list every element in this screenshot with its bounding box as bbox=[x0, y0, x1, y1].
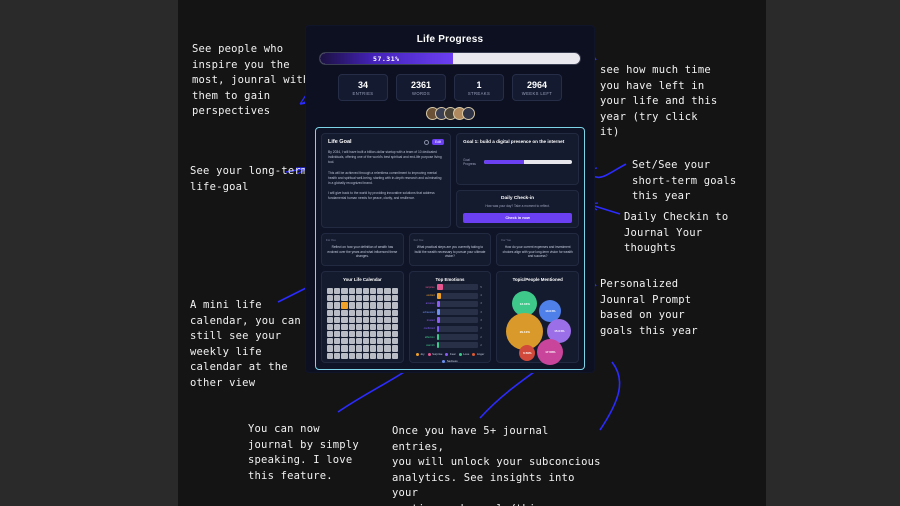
emotion-bar-fill bbox=[437, 284, 443, 290]
prompt-text: Reflect on how your definition of wealth… bbox=[326, 245, 399, 259]
calendar-cell[interactable] bbox=[384, 338, 390, 344]
emotion-label: conflicted bbox=[415, 327, 435, 330]
calendar-cell[interactable] bbox=[392, 345, 398, 351]
stat-value: 2361 bbox=[411, 80, 431, 90]
prompt-row: For You Reflect on how your definition o… bbox=[321, 233, 579, 266]
calendar-cell[interactable] bbox=[370, 310, 376, 316]
emotion-value: 5 bbox=[480, 286, 485, 289]
calendar-cell[interactable] bbox=[384, 295, 390, 301]
goal-progress-fill bbox=[484, 160, 524, 164]
calendar-cell[interactable] bbox=[341, 345, 347, 351]
legend-label: Fear bbox=[450, 352, 456, 356]
life-progress-label: 57.31% bbox=[320, 53, 453, 64]
calendar-cell[interactable] bbox=[377, 302, 383, 308]
topic-bubble[interactable]: 6.59% bbox=[519, 345, 535, 361]
life-goal-paragraph: I will give back to the world by providi… bbox=[328, 191, 444, 201]
calendar-cell[interactable] bbox=[356, 310, 362, 316]
calendar-cell[interactable] bbox=[370, 324, 376, 330]
life-progress-bar[interactable]: 57.31% bbox=[319, 52, 581, 65]
life-goal-paragraph: By 2034, I will have built a billion-dol… bbox=[328, 150, 444, 166]
calendar-cell[interactable] bbox=[349, 324, 355, 330]
calendar-cell[interactable] bbox=[384, 324, 390, 330]
life-goal-title: Life Goal bbox=[328, 139, 352, 145]
calendar-cell[interactable] bbox=[349, 345, 355, 351]
emotion-row: warmth2 bbox=[415, 342, 486, 348]
annotation-daily-checkin: Daily Checkin to Journal Your thoughts bbox=[624, 210, 748, 257]
topic-people-card: Topic/People Mentioned 13.04%13.04%29.12… bbox=[496, 271, 579, 363]
stat-label: STREAKS bbox=[468, 91, 490, 96]
emotion-label: exhausted bbox=[415, 311, 435, 314]
emotion-bar bbox=[437, 317, 479, 323]
stat-value: 2964 bbox=[527, 80, 547, 90]
gear-icon[interactable] bbox=[424, 140, 429, 145]
calendar-cell[interactable] bbox=[392, 324, 398, 330]
emotion-row: conflicted2 bbox=[415, 326, 486, 332]
stat-words[interactable]: 2361 WORDS bbox=[396, 74, 446, 101]
calendar-cell[interactable] bbox=[377, 295, 383, 301]
calendar-cell[interactable] bbox=[377, 353, 383, 359]
emotion-bar bbox=[437, 334, 479, 340]
emotion-row: excited4 bbox=[415, 293, 486, 299]
emotion-row: anxious3 bbox=[415, 301, 486, 307]
emotion-row: trusted3 bbox=[415, 317, 486, 323]
calendar-cell[interactable] bbox=[341, 310, 347, 316]
calendar-cell[interactable] bbox=[377, 345, 383, 351]
prompt-text: What practical steps are you currently t… bbox=[414, 245, 487, 259]
calendar-cell[interactable] bbox=[370, 345, 376, 351]
calendar-cell[interactable] bbox=[392, 331, 398, 337]
calendar-cell[interactable] bbox=[349, 353, 355, 359]
daily-checkin-title: Daily Check-in bbox=[463, 196, 572, 201]
emotion-bar-fill bbox=[437, 334, 440, 340]
inspiring-people-avatars[interactable] bbox=[306, 107, 594, 120]
life-goal-header: Life Goal Edit bbox=[328, 139, 444, 145]
calendar-cell[interactable] bbox=[392, 353, 398, 359]
topic-people-title: Topic/People Mentioned bbox=[502, 277, 573, 282]
annotation-life-goal: See your long-term life-goal bbox=[190, 164, 315, 195]
calendar-cell[interactable] bbox=[363, 353, 369, 359]
calendar-cell[interactable] bbox=[384, 353, 390, 359]
legend-dot bbox=[472, 353, 475, 356]
emotion-label: excited bbox=[415, 294, 435, 297]
edit-button[interactable]: Edit bbox=[432, 139, 444, 145]
stat-label: WEEKS LEFT bbox=[522, 91, 553, 96]
calendar-cell[interactable] bbox=[334, 324, 340, 330]
annotation-life-calendar: A mini life calendar, you can still see … bbox=[190, 298, 310, 391]
calendar-cell[interactable] bbox=[341, 295, 347, 301]
daily-checkin-subtitle: How was your day? Take a moment to refle… bbox=[463, 204, 572, 208]
emotion-label: trusted bbox=[415, 319, 435, 322]
stat-streaks[interactable]: 1 STREAKS bbox=[454, 74, 504, 101]
calendar-cell[interactable] bbox=[334, 353, 340, 359]
calendar-cell[interactable] bbox=[327, 295, 333, 301]
calendar-cell[interactable] bbox=[370, 353, 376, 359]
emotion-bar bbox=[437, 284, 479, 290]
calendar-cell[interactable] bbox=[363, 345, 369, 351]
stat-entries[interactable]: 34 ENTRIES bbox=[338, 74, 388, 101]
legend-label: Surprise bbox=[432, 352, 442, 356]
calendar-cell[interactable] bbox=[327, 310, 333, 316]
legend-label: Joy bbox=[420, 352, 424, 356]
prompt-text: How do your current expenses and investm… bbox=[501, 245, 574, 259]
emotion-value: 2 bbox=[480, 336, 485, 339]
page-title: Life Progress bbox=[306, 26, 594, 45]
calendar-cell[interactable] bbox=[384, 310, 390, 316]
calendar-cell[interactable] bbox=[349, 302, 355, 308]
legend-item: Fear bbox=[445, 352, 455, 356]
stat-label: ENTRIES bbox=[353, 91, 374, 96]
legend-dot bbox=[428, 353, 431, 356]
goal-progress-row: Goal Progress bbox=[463, 158, 572, 166]
emotion-label: surprise bbox=[415, 286, 435, 289]
prompt-card[interactable]: For You How do your current expenses and… bbox=[496, 233, 579, 266]
calendar-cell[interactable] bbox=[349, 331, 355, 337]
annotation-journal-prompt: Personalized Jounral Prompt based on you… bbox=[600, 277, 722, 339]
calendar-cell[interactable] bbox=[327, 324, 333, 330]
life-goal-paragraph: This will be achieved through a relentle… bbox=[328, 171, 444, 187]
calendar-cell[interactable] bbox=[363, 295, 369, 301]
goal-progress-label: Goal Progress bbox=[463, 158, 480, 166]
top-emotions-card: Top Emotions surprise5excited4anxious3ex… bbox=[409, 271, 492, 363]
calendar-cell[interactable] bbox=[327, 317, 333, 323]
legend-item: Sadness bbox=[442, 359, 457, 363]
emotion-bar bbox=[437, 301, 479, 307]
calendar-cell[interactable] bbox=[334, 345, 340, 351]
stat-value: 34 bbox=[358, 80, 368, 90]
emotion-bar-fill bbox=[437, 301, 441, 307]
calendar-cell[interactable] bbox=[377, 317, 383, 323]
legend-label: Love bbox=[463, 352, 469, 356]
annotation-time-left: see how much time you have left in your … bbox=[600, 63, 728, 141]
calendar-cell[interactable] bbox=[334, 338, 340, 344]
bubble-chart[interactable]: 13.04%13.04%29.12%15.04%17.58%6.59% bbox=[502, 285, 573, 363]
calendar-cell[interactable] bbox=[349, 310, 355, 316]
emotion-value: 2 bbox=[480, 327, 485, 330]
calendar-cell[interactable] bbox=[392, 288, 398, 294]
calendar-cell[interactable] bbox=[363, 317, 369, 323]
emotion-label: warmth bbox=[415, 344, 435, 347]
calendar-cell[interactable] bbox=[363, 302, 369, 308]
life-goal-body: By 2034, I will have built a billion-dol… bbox=[328, 150, 444, 202]
calendar-cell[interactable] bbox=[377, 310, 383, 316]
emotion-value: 4 bbox=[480, 294, 485, 297]
stat-weeks-left[interactable]: 2964 WEEKS LEFT bbox=[512, 74, 562, 101]
prompt-tag: For You bbox=[501, 238, 574, 242]
calendar-cell[interactable] bbox=[384, 317, 390, 323]
calendar-cell[interactable] bbox=[392, 338, 398, 344]
calendar-cell[interactable] bbox=[327, 345, 333, 351]
calendar-cell[interactable] bbox=[384, 345, 390, 351]
legend-item: Surprise bbox=[428, 352, 443, 356]
stat-value: 1 bbox=[476, 80, 481, 90]
prompt-card[interactable]: For You What practical steps are you cur… bbox=[409, 233, 492, 266]
calendar-cell[interactable] bbox=[356, 331, 362, 337]
calendar-cell[interactable] bbox=[392, 310, 398, 316]
calendar-cell[interactable] bbox=[392, 295, 398, 301]
calendar-cell[interactable] bbox=[370, 317, 376, 323]
calendar-cell[interactable] bbox=[356, 338, 362, 344]
emotion-value: 3 bbox=[480, 311, 485, 314]
emotion-value: 3 bbox=[480, 319, 485, 322]
calendar-cell[interactable] bbox=[341, 317, 347, 323]
calendar-cell[interactable] bbox=[327, 353, 333, 359]
calendar-cell[interactable] bbox=[341, 331, 347, 337]
goal-title: Goal 1: build a digital presence on the … bbox=[463, 139, 572, 144]
prompt-tag: For You bbox=[414, 238, 487, 242]
calendar-cell[interactable] bbox=[341, 302, 347, 308]
left-gutter bbox=[0, 0, 178, 506]
stat-tiles: 34 ENTRIES 2361 WORDS 1 STREAKS 2964 WEE… bbox=[306, 74, 594, 101]
calendar-cell[interactable] bbox=[341, 353, 347, 359]
life-calendar-grid[interactable] bbox=[327, 288, 398, 359]
annotation-inspiring-people: See people who inspire you the most, jou… bbox=[192, 42, 314, 120]
calendar-cell[interactable] bbox=[377, 324, 383, 330]
annotation-voice-journal: You can now journal by simply speaking. … bbox=[248, 422, 380, 484]
calendar-cell[interactable] bbox=[356, 288, 362, 294]
prompt-card[interactable]: For You Reflect on how your definition o… bbox=[321, 233, 404, 266]
calendar-cell[interactable] bbox=[384, 331, 390, 337]
calendar-cell[interactable] bbox=[349, 317, 355, 323]
calendar-cell[interactable] bbox=[363, 324, 369, 330]
stat-label: WORDS bbox=[412, 91, 430, 96]
calendar-cell[interactable] bbox=[356, 353, 362, 359]
calendar-cell[interactable] bbox=[327, 302, 333, 308]
calendar-cell[interactable] bbox=[341, 324, 347, 330]
calendar-cell[interactable] bbox=[334, 331, 340, 337]
calendar-cell[interactable] bbox=[363, 310, 369, 316]
emotion-value: 3 bbox=[480, 302, 485, 305]
emotion-bar-fill bbox=[437, 317, 441, 323]
legend-label: Anger bbox=[477, 352, 484, 356]
calendar-cell[interactable] bbox=[356, 317, 362, 323]
calendar-cell[interactable] bbox=[334, 310, 340, 316]
screenshot-root: See people who inspire you the most, jou… bbox=[0, 0, 900, 506]
legend-dot bbox=[445, 353, 448, 356]
calendar-cell[interactable] bbox=[327, 338, 333, 344]
emotion-legend: JoySurpriseFearLoveAngerSadness bbox=[415, 352, 486, 363]
prompt-tag: For You bbox=[326, 238, 399, 242]
app-window: Life Progress 57.31% 34 ENTRIES 2361 WOR… bbox=[305, 25, 595, 373]
calendar-cell[interactable] bbox=[363, 331, 369, 337]
calendar-cell[interactable] bbox=[377, 331, 383, 337]
legend-item: Anger bbox=[472, 352, 484, 356]
legend-item: Love bbox=[459, 352, 470, 356]
calendar-cell[interactable] bbox=[363, 338, 369, 344]
calendar-cell[interactable] bbox=[363, 288, 369, 294]
calendar-cell[interactable] bbox=[341, 288, 347, 294]
calendar-cell[interactable] bbox=[349, 338, 355, 344]
life-calendar-card[interactable]: Your Life Calendar bbox=[321, 271, 404, 363]
emotion-bar bbox=[437, 342, 479, 348]
life-goal-card: Life Goal Edit By 2034, I will have buil… bbox=[321, 133, 451, 228]
emotion-label: affection bbox=[415, 336, 435, 339]
avatar[interactable] bbox=[462, 107, 475, 120]
emotion-bar-fill bbox=[437, 293, 442, 299]
calendar-cell[interactable] bbox=[370, 338, 376, 344]
calendar-cell[interactable] bbox=[356, 295, 362, 301]
emotion-row: exhausted3 bbox=[415, 309, 486, 315]
right-column: Goal 1: build a digital presence on the … bbox=[456, 133, 579, 228]
emotion-bar-fill bbox=[437, 309, 441, 315]
calendar-cell[interactable] bbox=[327, 288, 333, 294]
emotion-bar bbox=[437, 309, 479, 315]
legend-dot bbox=[459, 353, 462, 356]
calendar-cell[interactable] bbox=[392, 302, 398, 308]
calendar-cell[interactable] bbox=[384, 302, 390, 308]
calendar-cell[interactable] bbox=[370, 331, 376, 337]
goal-progress-bar bbox=[484, 160, 572, 164]
goal-card[interactable]: Goal 1: build a digital presence on the … bbox=[456, 133, 579, 185]
legend-dot bbox=[416, 353, 419, 356]
calendar-cell[interactable] bbox=[349, 295, 355, 301]
annotation-subconcious-analytics: Once you have 5+ journal entries, you wi… bbox=[392, 424, 607, 506]
right-gutter bbox=[766, 0, 900, 506]
daily-checkin-card: Daily Check-in How was your day? Take a … bbox=[456, 190, 579, 228]
emotion-bars: surprise5excited4anxious3exhausted3trust… bbox=[415, 284, 486, 348]
calendar-cell[interactable] bbox=[334, 302, 340, 308]
calendar-cell[interactable] bbox=[356, 302, 362, 308]
calendar-cell[interactable] bbox=[334, 317, 340, 323]
topic-bubble[interactable]: 17.58% bbox=[537, 339, 563, 365]
emotion-bar bbox=[437, 326, 479, 332]
life-calendar-title: Your Life Calendar bbox=[327, 277, 398, 282]
calendar-cell[interactable] bbox=[356, 324, 362, 330]
legend-label: Sadness bbox=[447, 359, 458, 363]
calendar-cell[interactable] bbox=[377, 338, 383, 344]
calendar-cell[interactable] bbox=[356, 345, 362, 351]
top-emotions-title: Top Emotions bbox=[415, 277, 486, 282]
emotion-bar-fill bbox=[437, 342, 440, 348]
emotion-row: affection2 bbox=[415, 334, 486, 340]
analytics-row: Your Life Calendar Top Emotions surprise… bbox=[321, 271, 579, 363]
dashboard-panel: Life Goal Edit By 2034, I will have buil… bbox=[315, 127, 585, 370]
calendar-cell[interactable] bbox=[384, 288, 390, 294]
calendar-cell[interactable] bbox=[334, 288, 340, 294]
top-row: Life Goal Edit By 2034, I will have buil… bbox=[321, 133, 579, 228]
legend-item: Joy bbox=[416, 352, 425, 356]
calendar-cell[interactable] bbox=[334, 295, 340, 301]
calendar-cell[interactable] bbox=[370, 295, 376, 301]
emotion-bar bbox=[437, 293, 479, 299]
emotion-row: surprise5 bbox=[415, 284, 486, 290]
calendar-cell[interactable] bbox=[370, 302, 376, 308]
annotation-short-term-goals: Set/See your short-term goals this year bbox=[632, 158, 754, 205]
calendar-cell[interactable] bbox=[341, 338, 347, 344]
calendar-cell[interactable] bbox=[370, 288, 376, 294]
calendar-cell[interactable] bbox=[327, 331, 333, 337]
calendar-cell[interactable] bbox=[377, 288, 383, 294]
check-in-now-button[interactable]: Check in now bbox=[463, 213, 572, 223]
life-goal-tools: Edit bbox=[424, 139, 444, 145]
emotion-label: anxious bbox=[415, 302, 435, 305]
emotion-value: 2 bbox=[480, 344, 485, 347]
calendar-cell[interactable] bbox=[392, 317, 398, 323]
calendar-cell[interactable] bbox=[349, 288, 355, 294]
emotion-bar-fill bbox=[437, 326, 440, 332]
legend-dot bbox=[442, 360, 445, 363]
